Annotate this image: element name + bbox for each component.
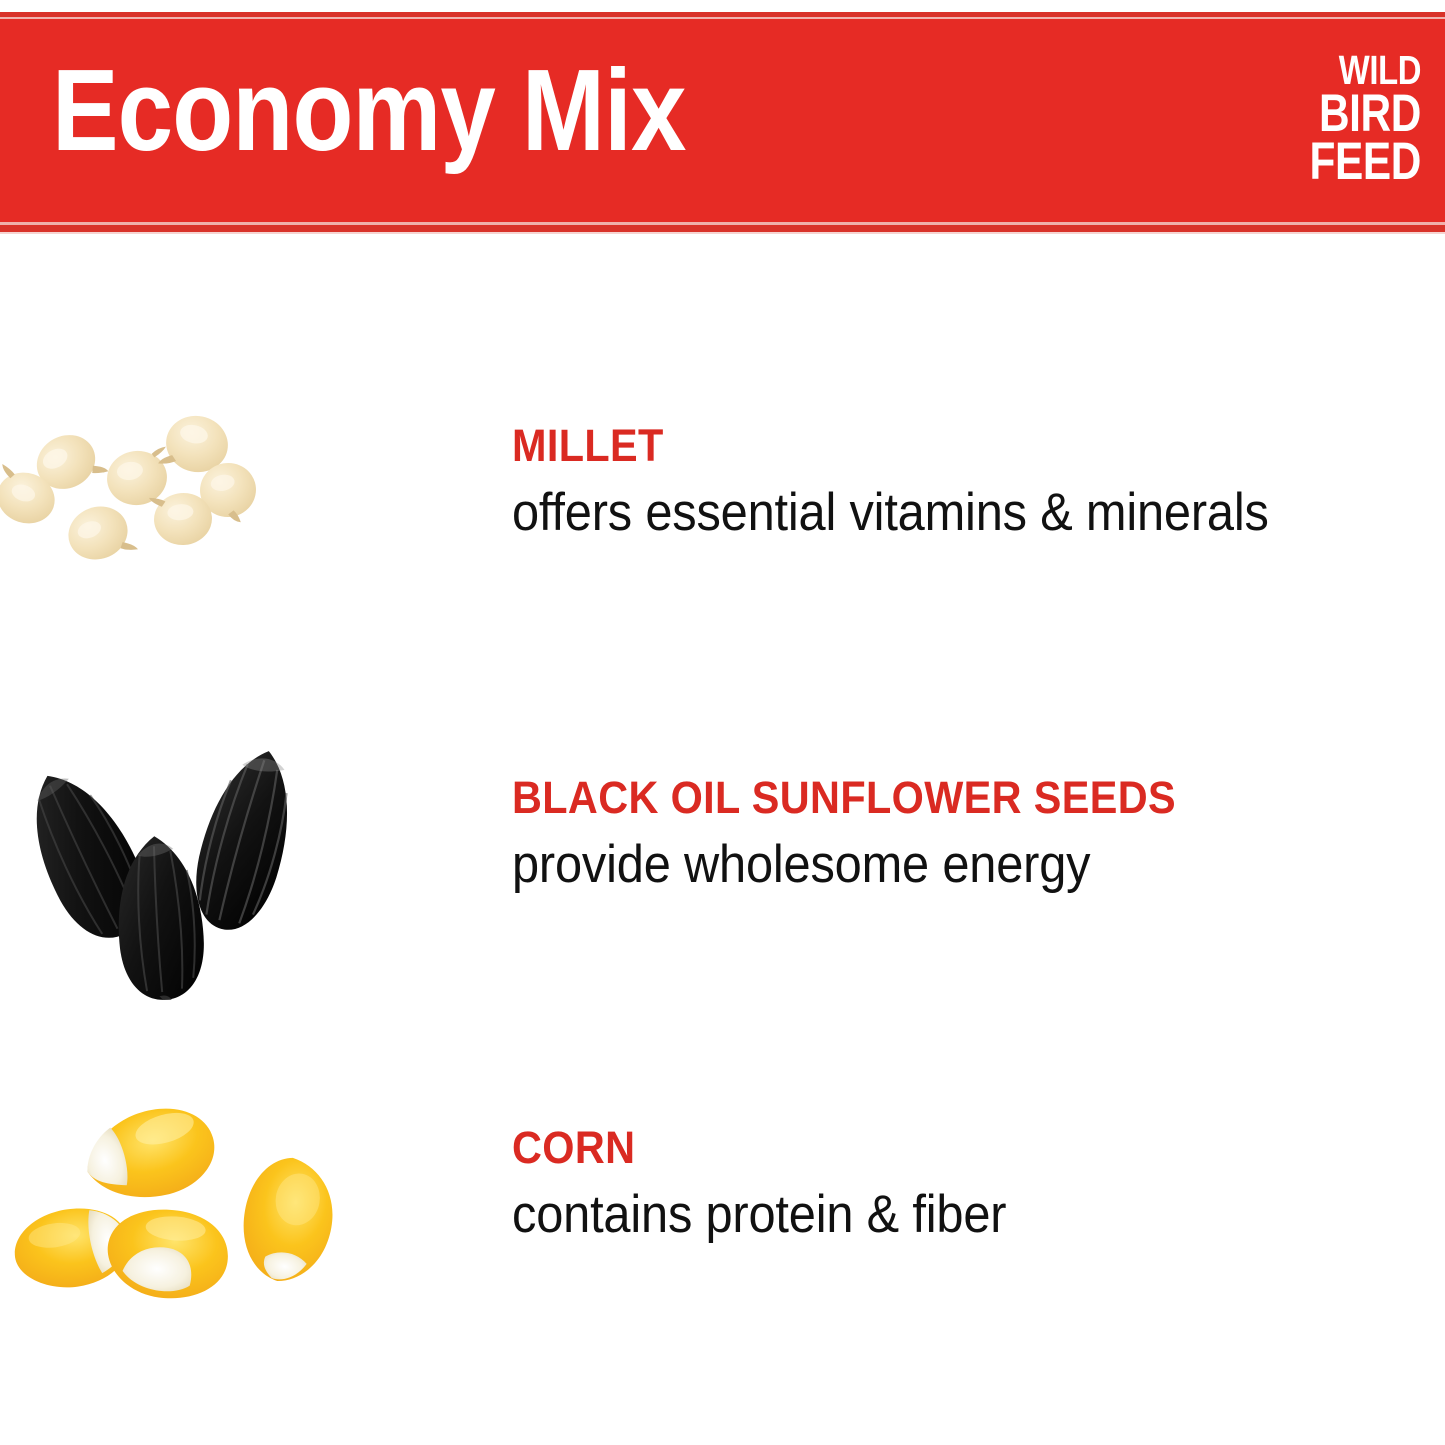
ingredient-name-millet: MILLET <box>512 420 1269 472</box>
ingredient-name-corn: CORN <box>512 1122 1006 1174</box>
ingredient-description-millet: offers essential vitamins & minerals <box>512 482 1269 543</box>
ingredient-row-corn: CORN contains protein & fiber <box>0 1080 1445 1330</box>
sunflower-text-block: BLACK OIL SUNFLOWER SEEDS provide wholes… <box>512 772 1234 895</box>
brand-logo-line-feed: FEED <box>1285 138 1421 187</box>
banner-bottom-hairline-2 <box>0 232 1445 234</box>
sunflower-seeds-image <box>0 700 460 1000</box>
brand-logo: WILD BIRD FEED <box>1251 52 1421 187</box>
header-banner: Economy Mix WILD BIRD FEED <box>0 0 1445 234</box>
ingredient-description-corn: contains protein & fiber <box>512 1184 1006 1245</box>
product-feature-panel: Economy Mix WILD BIRD FEED <box>0 0 1445 1445</box>
banner-bottom-rule <box>0 225 1445 232</box>
page-title: Economy Mix <box>52 52 686 168</box>
sunflower-seeds-icon <box>0 700 460 1000</box>
brand-logo-line-bird: BIRD <box>1285 90 1421 139</box>
corn-text-block: CORN contains protein & fiber <box>512 1122 1049 1245</box>
millet-text-block: MILLET offers essential vitamins & miner… <box>512 420 1334 543</box>
ingredient-row-millet: MILLET offers essential vitamins & miner… <box>0 400 1445 580</box>
ingredient-description-sunflower: provide wholesome energy <box>512 834 1176 895</box>
ingredient-name-sunflower: BLACK OIL SUNFLOWER SEEDS <box>512 772 1176 824</box>
corn-kernels-image <box>0 1080 460 1330</box>
ingredient-row-sunflower: BLACK OIL SUNFLOWER SEEDS provide wholes… <box>0 700 1445 1000</box>
corn-kernels-icon <box>0 1080 460 1330</box>
millet-seeds-image <box>0 400 460 580</box>
millet-seeds-icon <box>0 400 460 580</box>
